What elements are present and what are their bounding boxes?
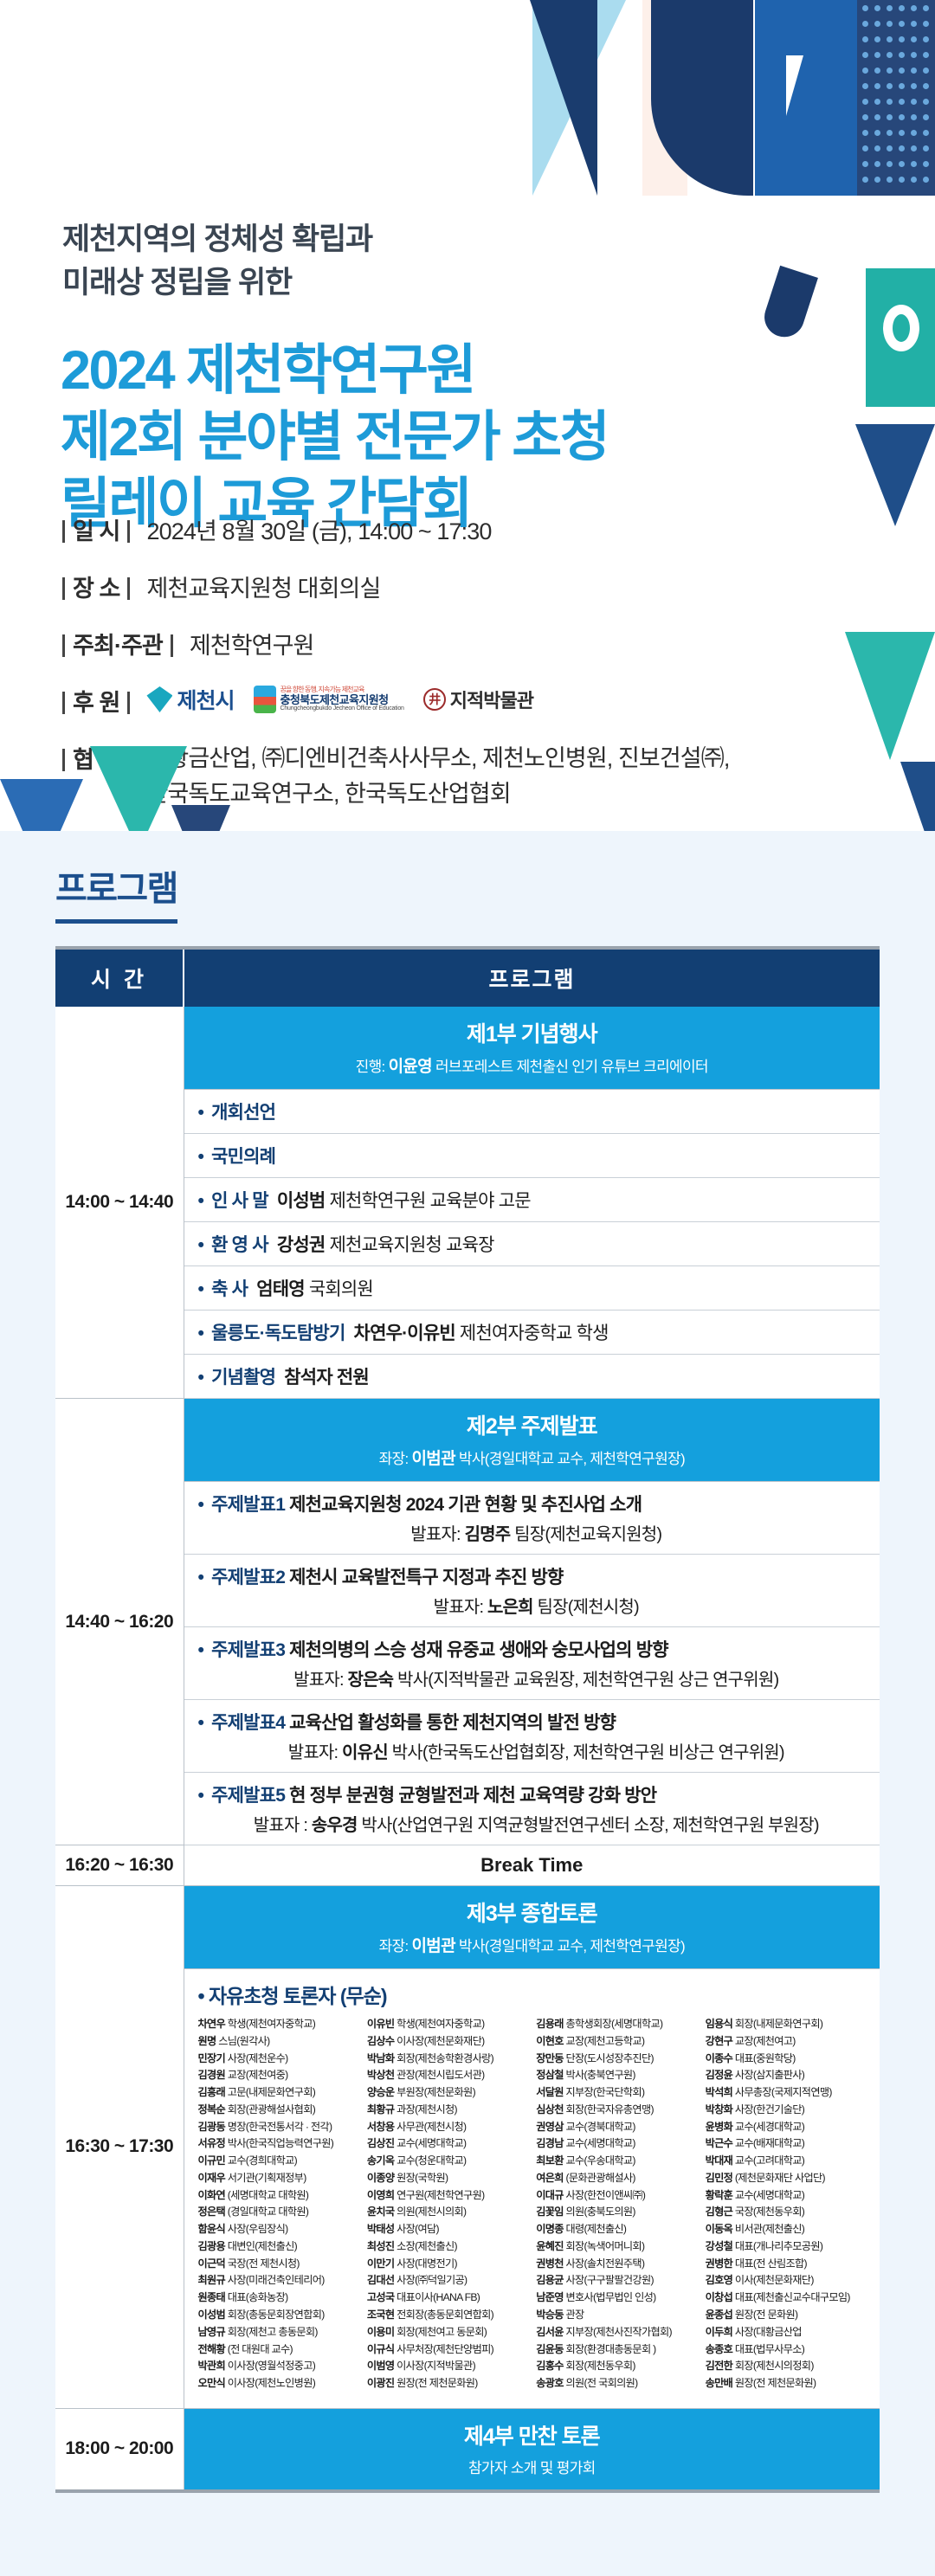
panelist-affiliation: 대표(제천출신교수대구모임) <box>735 2291 850 2303</box>
panelist-affiliation: 회장(녹색어머니회) <box>565 2240 644 2252</box>
panelist-name: 최원규 <box>198 2274 226 2286</box>
talk-presenter: 발표자: 장은숙 박사(지적박물관 교육원장, 제천학연구원 상근 연구위원) <box>198 1665 875 1690</box>
program-item-person: 강성권 <box>277 1235 326 1255</box>
panelist: 오만식 이사장(제천노인병원) <box>198 2375 360 2392</box>
panelist-cell: • 자유초청 토론자 (무순)차연우 학생(제천여자중학교)원명 스님(원각사)… <box>184 1969 880 2409</box>
panelist-name: 윤혜진 <box>536 2240 564 2252</box>
panelist-name: 이근덕 <box>198 2257 226 2270</box>
panelist: 김용균 사장(구구팔팔건강원) <box>536 2272 698 2289</box>
column-header-program: 프로그램 <box>184 948 880 1007</box>
panelist-affiliation: 대령(제천출신) <box>565 2223 626 2235</box>
section-banner: 제2부 주제발표좌장: 이범관 박사(경일대학교 교수, 제천학연구원장) <box>184 1399 880 1482</box>
panelist-affiliation: 교수(우송대학교) <box>565 2154 635 2167</box>
program-table: 시 간 프로그램 14:00 ~ 14:40제1부 기념행사진행: 이윤영 러브… <box>55 946 880 2493</box>
sponsor-logo-jecheon-city: 제천시 <box>146 684 234 715</box>
talk-presenter: 발표자: 노은희 팀장(제천시청) <box>198 1593 875 1618</box>
talk-presenter: 발표자: 이유신 박사(한국독도산업협회장, 제천학연구원 비상근 연구위원) <box>198 1738 875 1763</box>
talk-topic: 현 정부 분권형 균형발전과 제천 교육역량 강화 방안 <box>289 1786 656 1806</box>
office-of-education-logo-icon <box>254 686 276 713</box>
panelist-name: 박석희 <box>706 2086 733 2098</box>
panelist-name: 송만배 <box>706 2377 733 2389</box>
panelist: 김형근 국장(제천동우회) <box>706 2204 867 2221</box>
panelist-affiliation: 총학생회장(세명대학교) <box>565 2018 662 2030</box>
info-row-date: 일 시 2024년 8월 30일 (금), 14:00 ~ 17:30 <box>62 512 876 546</box>
talk-number: 주제발표5 <box>211 1786 285 1806</box>
bullet-icon: • <box>198 1103 204 1123</box>
panelist: 송기옥 교수(청운대학교) <box>367 2153 529 2170</box>
deco-bottom-left-navy-triangle <box>0 779 83 831</box>
panelist: 김전한 회장(제천시의정회) <box>706 2358 867 2375</box>
panelist-name: 김용래 <box>536 2018 564 2030</box>
deco-white-ring <box>883 305 919 351</box>
panelist: 김서윤 지부장(제천사진작가협회) <box>536 2324 698 2341</box>
panelist-name: 서창용 <box>367 2121 395 2133</box>
talk-number: 주제발표2 <box>211 1568 285 1587</box>
panelist-affiliation: 사장(여담) <box>397 2223 439 2235</box>
program-item-person: 엄태영 <box>256 1279 305 1299</box>
panelist-affiliation: (전 대원대 교수) <box>228 2343 293 2355</box>
talk-presenter-name: 장은숙 <box>347 1671 393 1690</box>
panelist: 원명 스님(원각사) <box>198 2033 360 2051</box>
program-talk: • 주제발표3 제천의병의 스승 성재 유중교 생애와 숭모사업의 방향발표자:… <box>184 1627 880 1700</box>
panelist-name: 장만동 <box>536 2052 564 2064</box>
program-item-label: 국민의례 <box>211 1147 275 1167</box>
panelist: 이광진 원장(전 제천문화원) <box>367 2375 529 2392</box>
panelist: 박태성 사장(여담) <box>367 2221 529 2238</box>
info-value-venue: 제천교육지원청 대회의실 <box>146 570 380 603</box>
panelist-name: 정은택 <box>198 2206 226 2218</box>
panelist-name: 이종수 <box>706 2052 733 2064</box>
bullet-icon: • <box>198 1568 204 1587</box>
panelist-affiliation: 국장(전 제천시청) <box>228 2257 300 2270</box>
info-value-host: 제천학연구원 <box>190 627 314 660</box>
talk-presenter: 발표자: 김명주 팀장(제천교육지원청) <box>198 1520 875 1545</box>
info-value-support-line-1: 대황금산업, ㈜디엔비건축사사무소, 제천노인병원, 진보건설㈜, <box>146 741 729 776</box>
panelist-name: 박관희 <box>198 2360 226 2372</box>
panelist: 이대규 사장(한전이앤씨㈜) <box>536 2187 698 2205</box>
talk-number: 주제발표1 <box>211 1495 285 1515</box>
program-item-person: 이성범 <box>277 1191 326 1211</box>
sponsor-logo-office-of-education: 꿈을 향한 동행, 지속가능 제천교육 충청북도제천교육지원청 Chungche… <box>254 686 404 713</box>
deco-navy-triangle-3 <box>900 762 935 831</box>
panelist-name: 윤종섭 <box>706 2309 733 2321</box>
panelist: 장만동 단장(도시성장추진단) <box>536 2051 698 2068</box>
panelist-name: 고성국 <box>367 2291 395 2303</box>
panelist: 박석희 사무총장(국제지적연맹) <box>706 2084 867 2102</box>
panelist: 전해황 (전 대원대 교수) <box>198 2341 360 2359</box>
panelist: 이범영 이사장(지적박물관) <box>367 2358 529 2375</box>
deco-white-arrow <box>786 55 821 116</box>
panelist-name: 김상수 <box>367 2035 395 2047</box>
panelist: 김상수 이사장(제천문화재단) <box>367 2033 529 2051</box>
panelist-grid: 차연우 학생(제천여자중학교)원명 스님(원각사)민장기 사장(제천운수)김경원… <box>198 2016 868 2392</box>
sponsor-logo-group: 제천시 꿈을 향한 동행, 지속가능 제천교육 충청북도제천교육지원청 Chun… <box>146 684 532 715</box>
panelist-name: 서달원 <box>536 2086 564 2098</box>
panelist-name: 양승운 <box>367 2086 395 2098</box>
info-value-date: 2024년 8월 30일 (금), 14:00 ~ 17:30 <box>146 512 491 546</box>
talk-topic: 교육산업 활성화를 통한 제천지역의 발전 방향 <box>289 1713 616 1733</box>
sponsor-name-jecheon-city: 제천시 <box>177 684 234 715</box>
panelist: 최황규 과장(제천시청) <box>367 2102 529 2119</box>
bullet-icon: • <box>198 1191 204 1211</box>
info-label-host: 주최·주관 <box>62 627 181 660</box>
panelist: 김정윤 사장(삼지출판사) <box>706 2067 867 2084</box>
panelist-affiliation: 학생(제천여자중학교) <box>397 2018 484 2030</box>
talk-presenter-name: 노은희 <box>487 1598 533 1617</box>
panelist-affiliation: 사장(한건기술단) <box>735 2103 804 2116</box>
panelist-affiliation: 이사장(제천노인병원) <box>228 2377 315 2389</box>
panelist-affiliation: 의원(전 국회의원) <box>565 2377 637 2389</box>
panelist-affiliation: 전회장(총동문회연합회) <box>397 2309 493 2321</box>
panelist: 송만배 원장(전 제천문화원) <box>706 2375 867 2392</box>
panelist: 정복순 회장(관광해설사협회) <box>198 2102 360 2119</box>
panelist-affiliation: 교수(세명대학교) <box>565 2137 635 2149</box>
panelist: 이재우 서기관(기획재정부) <box>198 2170 360 2187</box>
panelist-affiliation: 회장(환경대총동문회 ) <box>565 2343 655 2355</box>
panelist-affiliation: 서기관(기획재정부) <box>228 2172 306 2184</box>
panelist-affiliation: 명장(한국전통서각 · 전각) <box>228 2121 332 2133</box>
panelist-affiliation: 비서관(제천출신) <box>735 2223 804 2235</box>
panelist-name: 박근수 <box>706 2137 733 2149</box>
panelist: 민장기 사장(제천운수) <box>198 2051 360 2068</box>
panelist-affiliation: 교장(제천여중) <box>228 2069 288 2081</box>
panelist: 이성범 회장(총동문회장연합회) <box>198 2307 360 2324</box>
section-title: 제4부 만찬 토론 <box>190 2419 875 2450</box>
panelist-affiliation: 회장(총동문회장연합회) <box>228 2309 325 2321</box>
panelist-name: 원종태 <box>198 2291 226 2303</box>
panelist-affiliation: 사무총장(국제지적연맹) <box>735 2086 832 2098</box>
panelist-affiliation: 회장(제천동우회) <box>565 2360 635 2372</box>
panelist-name: 남영규 <box>198 2326 226 2338</box>
panelist: 강현구 교장(제천여고) <box>706 2033 867 2051</box>
bullet-icon: • <box>198 1713 204 1733</box>
panelist-name: 김꽃임 <box>536 2206 564 2218</box>
info-row-venue: 장 소 제천교육지원청 대회의실 <box>62 570 876 603</box>
panelist-name: 권영삼 <box>536 2121 564 2133</box>
panelist-affiliation: 관장(제천시립도서관) <box>397 2069 484 2081</box>
panelist-affiliation: 교수(고려대학교) <box>735 2154 804 2167</box>
panelist-name: 조국현 <box>367 2309 395 2321</box>
panelist-name: 김홍수 <box>536 2360 564 2372</box>
panelist-affiliation: 사장(우림장식) <box>228 2223 288 2235</box>
time-cell: 14:00 ~ 14:40 <box>55 1007 184 1399</box>
program-item-role: 제천학연구원 교육분야 고문 <box>329 1191 530 1211</box>
panelist-heading: • 자유초청 토론자 (무순) <box>198 1980 868 2009</box>
poster-subtitle-line-1: 제천지역의 정체성 확립과 <box>62 218 372 261</box>
panelist: 김용래 총학생회장(세명대학교) <box>536 2016 698 2033</box>
panelist-affiliation: 대표(중원학당) <box>735 2052 796 2064</box>
program-item-label: 개회선언 <box>211 1103 275 1123</box>
info-row-sponsors: 후 원 제천시 꿈을 향한 동행, 지속가능 제천교육 충청북도제천교육지원청 … <box>62 684 876 718</box>
panelist: 여은희 (문화관광해설사) <box>536 2170 698 2187</box>
panelist-name: 이창섭 <box>706 2291 733 2303</box>
talk-presenter: 발표자 : 송우경 박사(산업연구원 지역균형발전연구센터 소장, 제천학연구원… <box>198 1811 875 1836</box>
panelist-affiliation: 교수(세경대학교) <box>735 2121 804 2133</box>
panelist: 정삼철 박사(충북연구원) <box>536 2067 698 2084</box>
panelist-name: 김광용 <box>198 2240 226 2252</box>
program-item-label: 인 사 말 <box>211 1191 268 1211</box>
panelist: 이화연 (세명대학교 대학원) <box>198 2187 360 2205</box>
section-title: 제1부 기념행사 <box>190 1017 875 1048</box>
panelist: 이규식 사무처장(제천단양범피) <box>367 2341 529 2359</box>
program-item-role: 국회의원 <box>309 1279 373 1299</box>
panelist-affiliation: 학생(제천여자중학교) <box>228 2018 315 2030</box>
panelist-column-4: 임용식 회장(내제문화연구회)강현구 교장(제천여고)이종수 대표(중원학당)김… <box>706 2016 867 2392</box>
panelist-name: 송기옥 <box>367 2154 395 2167</box>
panelist-name: 강현구 <box>706 2035 733 2047</box>
panelist-affiliation: 사장(삼지출판사) <box>735 2069 804 2081</box>
bullet-icon: • <box>198 1640 204 1660</box>
panelist-name: 이화연 <box>198 2189 226 2201</box>
program-item-label: 축 사 <box>211 1279 248 1299</box>
panelist: 윤치국 의원(제천시의회) <box>367 2204 529 2221</box>
section-subtitle: 좌장: 이범관 박사(경일대학교 교수, 제천학연구원장) <box>190 1446 875 1469</box>
talk-presenter-name: 송우경 <box>312 1816 358 1835</box>
panelist: 김꽃임 의원(충북도의원) <box>536 2204 698 2221</box>
break-label: Break Time <box>184 1845 880 1886</box>
table-row: 14:00 ~ 14:40제1부 기념행사진행: 이윤영 러브포레스트 제천출신… <box>55 1007 880 1090</box>
bullet-icon: • <box>198 1368 204 1388</box>
panelist-name: 남준영 <box>536 2291 564 2303</box>
panelist-name: 박남화 <box>367 2052 395 2064</box>
panelist: 정은택 (경일대학교 대학원) <box>198 2204 360 2221</box>
panelist-name: 김정윤 <box>706 2069 733 2081</box>
jecheon-city-logo-icon <box>146 686 172 712</box>
panelist: 심상천 회장(한국자유총연맹) <box>536 2102 698 2119</box>
panelist-affiliation: 부원장(제천문화원) <box>397 2086 475 2098</box>
panelist: 권병천 사장(솔치전원주택) <box>536 2256 698 2273</box>
panelist-affiliation: 대변인(제천출신) <box>228 2240 297 2252</box>
program-heading: 프로그램 <box>55 831 177 924</box>
panelist-affiliation: (경일대학교 대학원) <box>228 2206 309 2218</box>
panelist-affiliation: 단장(도시성장추진단) <box>565 2052 653 2064</box>
poster-subtitle: 제천지역의 정체성 확립과 미래상 정립을 위한 <box>62 218 372 304</box>
program-item-label: 울릉도·독도탐방기 <box>211 1323 345 1343</box>
panelist-affiliation: 사무처장(제천단양범피) <box>397 2343 493 2355</box>
bullet-icon: • <box>198 1147 204 1167</box>
panelist-affiliation: 지부장(한국단학회) <box>565 2086 644 2098</box>
panelist-name: 김상진 <box>367 2137 395 2149</box>
panelist: 이현호 교장(제천고등학교) <box>536 2033 698 2051</box>
panelist: 김민정 (제천문화재단 사업단) <box>706 2170 867 2187</box>
panelist-affiliation: 원장(전 제천문화원) <box>735 2377 816 2389</box>
panelist-affiliation: 회장(제천시의정회) <box>735 2360 814 2372</box>
poster-subtitle-line-2: 미래상 정립을 위한 <box>62 261 372 305</box>
section-host-name: 이범관 <box>412 1937 455 1955</box>
panelist-name: 송광호 <box>536 2377 564 2389</box>
panelist: 황락훈 교수(세명대학교) <box>706 2187 867 2205</box>
panelist-affiliation: 회장(제천고 총동문회) <box>228 2326 318 2338</box>
panelist: 이영희 연구원(제천학연구원) <box>367 2187 529 2205</box>
panelist: 박승동 관장 <box>536 2307 698 2324</box>
panelist: 최보환 교수(우송대학교) <box>536 2153 698 2170</box>
sponsor-name-office-of-education-en: Chungcheongbukdo Jecheon Office of Educa… <box>280 705 404 712</box>
bullet-icon: • <box>198 1786 204 1806</box>
panelist-name: 오만식 <box>198 2377 226 2389</box>
panelist-name: 이용미 <box>367 2326 395 2338</box>
program-section: 프로그램 시 간 프로그램 14:00 ~ 14:40제1부 기념행사진행: 이… <box>0 831 935 2576</box>
panelist-affiliation: 교장(제천고등학교) <box>565 2035 644 2047</box>
panelist-affiliation: 관장 <box>565 2309 584 2321</box>
panelist-affiliation: 이사(제천문화재단) <box>735 2274 814 2286</box>
talk-number: 주제발표4 <box>211 1713 285 1733</box>
panelist-affiliation: 교장(제천여고) <box>735 2035 796 2047</box>
panelist-name: 함윤식 <box>198 2223 226 2235</box>
panelist-affiliation: 변호사(법무법인 인성) <box>565 2291 655 2303</box>
panelist: 박남화 회장(제천송학환경사랑) <box>367 2051 529 2068</box>
panelist: 김상진 교수(세명대학교) <box>367 2135 529 2153</box>
panelist-affiliation: 국장(제천동우회) <box>735 2206 804 2218</box>
panelist-name: 김호영 <box>706 2274 733 2286</box>
deco-navy-triangle-2 <box>855 424 935 526</box>
panelist-name: 이규식 <box>367 2343 395 2355</box>
bullet-icon: • <box>198 1235 204 1255</box>
program-talk: • 주제발표2 제천시 교육발전특구 지정과 추진 방향발표자: 노은희 팀장(… <box>184 1555 880 1627</box>
panelist-name: 이두희 <box>706 2326 733 2338</box>
panelist: 김홍수 회장(제천동우회) <box>536 2358 698 2375</box>
table-header-row: 시 간 프로그램 <box>55 948 880 1007</box>
panelist: 이종양 원장(국학원) <box>367 2170 529 2187</box>
panelist-name: 이만기 <box>367 2257 395 2270</box>
poster-title: 2024 제천학연구원 제2회 분야별 전문가 초청 릴레이 교육 간담회 <box>61 338 608 538</box>
section-banner: 제3부 종합토론좌장: 이범관 박사(경일대학교 교수, 제천학연구원장) <box>184 1886 880 1969</box>
panelist: 김경남 교수(세명대학교) <box>536 2135 698 2153</box>
info-label-venue: 장 소 <box>62 570 138 603</box>
panelist-name: 김민정 <box>706 2172 733 2184</box>
panelist-name: 여은희 <box>536 2172 564 2184</box>
info-label-sponsors: 후 원 <box>62 684 138 718</box>
panelist-name: 김경남 <box>536 2137 564 2149</box>
section-title: 제2부 주제발표 <box>190 1409 875 1440</box>
panelist-column-3: 김용래 총학생회장(세명대학교)이현호 교장(제천고등학교)장만동 단장(도시성… <box>536 2016 698 2392</box>
panelist-affiliation: 교수(세명대학교) <box>397 2137 466 2149</box>
panelist-name: 박상천 <box>367 2069 395 2081</box>
panelist-affiliation: 사장(구구팔팔건강원) <box>565 2274 653 2286</box>
panelist: 최성진 소장(제천출신) <box>367 2238 529 2256</box>
program-item-person: 참석자 전원 <box>284 1368 369 1388</box>
panelist: 이만기 사장(대명전기) <box>367 2256 529 2273</box>
panelist-affiliation: (문화관광해설사) <box>565 2172 635 2184</box>
panelist: 이용미 회장(제천여고 동문회) <box>367 2324 529 2341</box>
panelist: 박창화 사장(한건기술단) <box>706 2102 867 2119</box>
panelist: 박대재 교수(고려대학교) <box>706 2153 867 2170</box>
panelist: 윤종섭 원장(전 문화원) <box>706 2307 867 2324</box>
panelist-affiliation: 교수(경희대학교) <box>228 2154 297 2167</box>
panelist-name: 이재우 <box>198 2172 226 2184</box>
panelist-name: 이유빈 <box>367 2018 395 2030</box>
panelist: 이창섭 대표(제천출신교수대구모임) <box>706 2289 867 2307</box>
panelist-name: 정삼철 <box>536 2069 564 2081</box>
section-host-name: 이윤영 <box>389 1058 432 1076</box>
panelist-name: 원명 <box>198 2035 216 2047</box>
panelist-affiliation: 교수(경북대학교) <box>565 2121 635 2133</box>
panelist-name: 이광진 <box>367 2377 395 2389</box>
panelist-affiliation: 고문(내제문화연구회) <box>228 2086 315 2098</box>
panelist-name: 김대선 <box>367 2274 395 2286</box>
panelist-name: 권병천 <box>536 2257 564 2270</box>
program-talk: • 주제발표5 현 정부 분권형 균형발전과 제천 교육역량 강화 방안발표자 … <box>184 1773 880 1845</box>
program-item: • 개회선언 <box>184 1090 880 1134</box>
panelist: 강성철 대표(개나리추모공원) <box>706 2238 867 2256</box>
program-item: • 인 사 말 이성범 제천학연구원 교육분야 고문 <box>184 1178 880 1222</box>
talk-presenter-name: 이유신 <box>342 1743 388 1762</box>
panelist: 김대선 사장(㈜덕일기공) <box>367 2272 529 2289</box>
panelist-affiliation: 의원(충북도의원) <box>565 2206 635 2218</box>
panelist-name: 송종호 <box>706 2343 733 2355</box>
panelist: 박근수 교수(배재대학교) <box>706 2135 867 2153</box>
deco-bottom-left-navy-triangle-2 <box>171 805 230 831</box>
panelist-name: 최황규 <box>367 2103 395 2116</box>
panelist: 김경원 교장(제천여중) <box>198 2067 360 2084</box>
panelist-name: 정복순 <box>198 2103 226 2116</box>
panelist-affiliation: 회장(제천송학환경사랑) <box>397 2052 493 2064</box>
info-row-host: 주최·주관 제천학연구원 <box>62 627 876 660</box>
info-value-support-line-2: 한국독도교육연구소, 한국독도산업협회 <box>146 776 729 812</box>
panelist: 이두희 사장(대황금산업 <box>706 2324 867 2341</box>
program-item-role: 제천교육지원청 교육장 <box>329 1235 493 1255</box>
panelist-name: 이명종 <box>536 2223 564 2235</box>
panelist-name: 김형근 <box>706 2206 733 2218</box>
panelist: 남준영 변호사(법무법인 인성) <box>536 2289 698 2307</box>
panelist-name: 김광동 <box>198 2121 226 2133</box>
panelist: 권병한 대표(전 산림조합) <box>706 2256 867 2273</box>
panelist: 양승운 부원장(제천문화원) <box>367 2084 529 2102</box>
panelist-affiliation: 사장(한전이앤씨㈜) <box>565 2189 645 2201</box>
sponsor-logo-cadastral-museum: 井 지적박물관 <box>423 686 533 713</box>
panelist: 조국현 전회장(총동문회연합회) <box>367 2307 529 2324</box>
program-talk: • 주제발표4 교육산업 활성화를 통한 제천지역의 발전 방향발표자: 이유신… <box>184 1700 880 1773</box>
panelist-affiliation: 과장(제천시청) <box>397 2103 457 2116</box>
panelist-name: 황락훈 <box>706 2189 733 2201</box>
panelist-affiliation: 사무관(제천시청) <box>397 2121 466 2133</box>
panelist-name: 이현호 <box>536 2035 564 2047</box>
panelist: 박관희 이사장(영월석정중고) <box>198 2358 360 2375</box>
panelist-affiliation: 의원(제천시의회) <box>397 2206 466 2218</box>
panelist-affiliation: 이사장(제천문화재단) <box>397 2035 484 2047</box>
sponsor-name-cadastral-museum: 지적박물관 <box>450 686 533 713</box>
section-subtitle: 좌장: 이범관 박사(경일대학교 교수, 제천학연구원장) <box>190 1933 875 1956</box>
sponsor-name-office-of-education: 충청북도제천교육지원청 <box>280 694 404 706</box>
panelist-name: 권병한 <box>706 2257 733 2270</box>
panelist-affiliation: 대표(송화농장) <box>228 2291 288 2303</box>
panelist-affiliation: 이사장(영월석정중고) <box>228 2360 315 2372</box>
panelist-affiliation: 회장(한국자유총연맹) <box>565 2103 653 2116</box>
bullet-icon: • <box>198 1495 204 1515</box>
panelist-name: 김용균 <box>536 2274 564 2286</box>
panelist-name: 김흥래 <box>198 2086 226 2098</box>
talk-topic: 제천시 교육발전특구 지정과 추진 방향 <box>289 1568 563 1587</box>
talk-number: 주제발표3 <box>211 1640 285 1660</box>
poster-title-line-1: 2024 제천학연구원 <box>61 338 608 404</box>
program-item-person: 차연우·이유빈 <box>354 1323 455 1343</box>
info-label-date: 일 시 <box>62 512 138 546</box>
time-cell: 16:30 ~ 17:30 <box>55 1886 184 2409</box>
panelist: 박상천 관장(제천시립도서관) <box>367 2067 529 2084</box>
panelist: 이근덕 국장(전 제천시청) <box>198 2256 360 2273</box>
panelist-affiliation: 사장(솔치전원주택) <box>565 2257 644 2270</box>
section-subtitle: 진행: 이윤영 러브포레스트 제천출신 인기 유튜브 크리에이터 <box>190 1053 875 1077</box>
column-header-time: 시 간 <box>55 948 184 1007</box>
poster-header: 제천지역의 정체성 확립과 미래상 정립을 위한 2024 제천학연구원 제2회… <box>0 0 935 831</box>
deco-leaf-shape <box>759 266 818 342</box>
poster-title-line-2: 제2회 분야별 전문가 초청 <box>61 404 608 471</box>
panelist: 함윤식 사장(우림장식) <box>198 2221 360 2238</box>
panelist-name: 윤병화 <box>706 2121 733 2133</box>
program-item-label: 기념촬영 <box>211 1368 275 1388</box>
panelist-affiliation: 사장(㈜덕일기공) <box>397 2274 467 2286</box>
time-cell: 18:00 ~ 20:00 <box>55 2408 184 2491</box>
panelist-name: 윤치국 <box>367 2206 395 2218</box>
